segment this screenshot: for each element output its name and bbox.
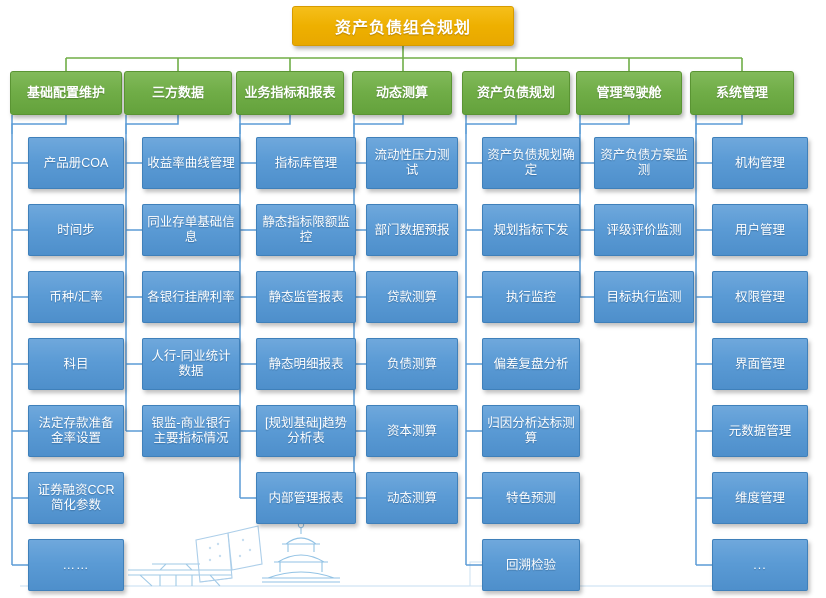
item-box-col-4-5[interactable]: 资本测算 bbox=[366, 405, 458, 457]
item-box-col-7-7[interactable]: ... bbox=[712, 539, 808, 591]
item-box-col-7-1[interactable]: 机构管理 bbox=[712, 137, 808, 189]
header-box-col-1[interactable]: 基础配置维护 bbox=[10, 71, 122, 115]
item-box-col-4-6[interactable]: 动态测算 bbox=[366, 472, 458, 524]
item-box-col-7-2[interactable]: 用户管理 bbox=[712, 204, 808, 256]
header-box-col-7[interactable]: 系统管理 bbox=[690, 71, 794, 115]
item-box-col-2-3[interactable]: 各银行挂牌利率 bbox=[142, 271, 240, 323]
item-box-col-5-7[interactable]: 回溯检验 bbox=[482, 539, 580, 591]
item-box-col-5-6[interactable]: 特色预测 bbox=[482, 472, 580, 524]
item-box-col-2-1[interactable]: 收益率曲线管理 bbox=[142, 137, 240, 189]
item-box-col-1-1[interactable]: 产品册COA bbox=[28, 137, 124, 189]
item-box-col-4-1[interactable]: 流动性压力测试 bbox=[366, 137, 458, 189]
header-box-col-5[interactable]: 资产负债规划 bbox=[462, 71, 570, 115]
item-box-col-6-3[interactable]: 目标执行监测 bbox=[594, 271, 694, 323]
item-box-col-1-4[interactable]: 科目 bbox=[28, 338, 124, 390]
item-box-col-5-3[interactable]: 执行监控 bbox=[482, 271, 580, 323]
diagram-canvas: 资产负债组合规划 基础配置维护 三方数据 业务指标和报表 动态测算 资产负债规划… bbox=[0, 0, 826, 598]
header-box-col-2[interactable]: 三方数据 bbox=[124, 71, 232, 115]
header-box-col-6[interactable]: 管理驾驶舱 bbox=[576, 71, 682, 115]
item-box-col-3-1[interactable]: 指标库管理 bbox=[256, 137, 356, 189]
item-box-col-4-4[interactable]: 负债测算 bbox=[366, 338, 458, 390]
item-box-col-1-6[interactable]: 证券融资CCR简化参数 bbox=[28, 472, 124, 524]
item-box-col-5-5[interactable]: 归因分析达标测算 bbox=[482, 405, 580, 457]
header-box-col-3[interactable]: 业务指标和报表 bbox=[236, 71, 344, 115]
item-box-col-1-5[interactable]: 法定存款准备金率设置 bbox=[28, 405, 124, 457]
item-box-col-5-2[interactable]: 规划指标下发 bbox=[482, 204, 580, 256]
item-box-col-4-3[interactable]: 贷款测算 bbox=[366, 271, 458, 323]
item-box-col-3-6[interactable]: 内部管理报表 bbox=[256, 472, 356, 524]
item-box-col-7-5[interactable]: 元数据管理 bbox=[712, 405, 808, 457]
item-box-col-4-2[interactable]: 部门数据预报 bbox=[366, 204, 458, 256]
item-box-col-1-3[interactable]: 币种/汇率 bbox=[28, 271, 124, 323]
item-box-col-5-1[interactable]: 资产负债规划确定 bbox=[482, 137, 580, 189]
root-title-box[interactable]: 资产负债组合规划 bbox=[292, 6, 514, 46]
item-box-col-2-2[interactable]: 同业存单基础信息 bbox=[142, 204, 240, 256]
item-box-col-7-3[interactable]: 权限管理 bbox=[712, 271, 808, 323]
header-box-col-4[interactable]: 动态测算 bbox=[352, 71, 452, 115]
item-box-col-1-7[interactable]: …… bbox=[28, 539, 124, 591]
item-box-col-6-2[interactable]: 评级评价监测 bbox=[594, 204, 694, 256]
item-box-col-3-5[interactable]: [规划基础]趋势分析表 bbox=[256, 405, 356, 457]
item-box-col-1-2[interactable]: 时间步 bbox=[28, 204, 124, 256]
item-box-col-7-4[interactable]: 界面管理 bbox=[712, 338, 808, 390]
item-box-col-3-4[interactable]: 静态明细报表 bbox=[256, 338, 356, 390]
item-box-col-3-3[interactable]: 静态监管报表 bbox=[256, 271, 356, 323]
item-box-col-2-4[interactable]: 人行-同业统计数据 bbox=[142, 338, 240, 390]
item-box-col-3-2[interactable]: 静态指标限额监控 bbox=[256, 204, 356, 256]
item-box-col-6-1[interactable]: 资产负债方案监测 bbox=[594, 137, 694, 189]
item-box-col-5-4[interactable]: 偏差复盘分析 bbox=[482, 338, 580, 390]
item-box-col-2-5[interactable]: 银监-商业银行主要指标情况 bbox=[142, 405, 240, 457]
item-box-col-7-6[interactable]: 维度管理 bbox=[712, 472, 808, 524]
